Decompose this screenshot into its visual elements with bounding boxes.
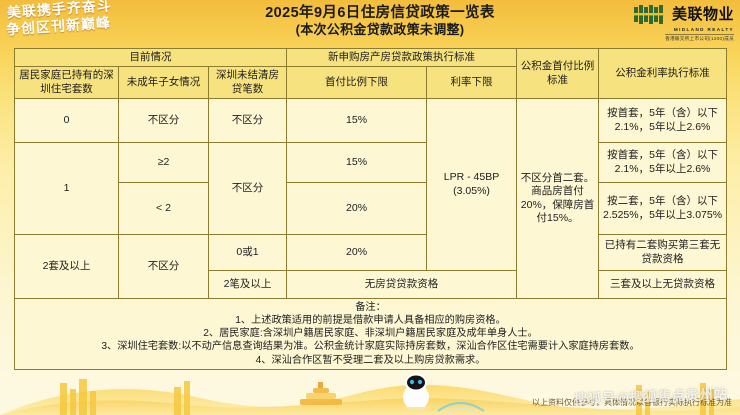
remarks-title: 备注：	[17, 301, 724, 314]
rate-min-line-2: (3.05%)	[429, 185, 514, 198]
policy-infographic: 美联携手齐奋斗 争创区刊新巅峰 2025年9月6日住房信贷政策一览表 (本次公积…	[0, 0, 740, 415]
table-row: 1 ≥2 不区分 15% 按首套，5年（含）以下2.1%，5年以上2.6%	[15, 143, 727, 183]
table-group-header-row: 目前情况 新申购房产房贷款政策执行标准 公积金首付比例标准 公积金利率执行标准	[15, 49, 727, 67]
cell-unsettled-loans: 不区分	[209, 143, 287, 235]
cell-owned-units: 1	[15, 143, 119, 235]
table-body: 0 不区分 不区分 15% LPR - 45BP (3.05%) 不区分首二套。…	[15, 99, 727, 369]
logo-row: 美联物业	[634, 4, 734, 25]
cell-unsettled-loans: 2笔及以上	[209, 271, 287, 299]
table-head: 目前情况 新申购房产房贷款政策执行标准 公积金首付比例标准 公积金利率执行标准 …	[15, 49, 727, 99]
cell-downpayment-min: 20%	[287, 235, 427, 271]
group-header-new-mortgage-policy: 新申购房产房贷款政策执行标准	[287, 49, 517, 67]
cell-unsettled-loans: 0或1	[209, 235, 287, 271]
skyline-illustration-icon	[0, 369, 740, 415]
city-skyline-decoration	[0, 369, 740, 415]
cell-unsettled-loans: 不区分	[209, 99, 287, 143]
page-title: 2025年9月6日住房信贷政策一览表 (本次公积金贷款政策未调整)	[170, 4, 590, 38]
cell-rate-min: LPR - 45BP (3.05%)	[427, 99, 517, 271]
group-header-current-status: 目前情况	[15, 49, 287, 67]
group-header-fund-rate: 公积金利率执行标准	[599, 49, 727, 99]
logo-name-en: MIDLAND REALTY	[674, 27, 734, 32]
remark-item-3: 3、深圳住宅套数:以不动产信息查询结果为准。公积金统计家庭实际持房套数，深汕合作…	[17, 340, 724, 353]
cell-downpayment-min: 20%	[287, 183, 427, 235]
remarks-row: 备注： 1、上述政策适用的前提是借款申请人具备相应的购房资格。 2、居民家庭:含…	[15, 299, 727, 369]
footer-disclaimer: 以上资料仅供参考，具体情况以各银行实际执行标准为准	[532, 397, 732, 408]
cell-minor-children: 不区分	[119, 235, 209, 299]
table-row: 2套及以上 不区分 0或1 20% 已持有二套购买第三套无贷款资格	[15, 235, 727, 271]
title-main: 2025年9月6日住房信贷政策一览表	[170, 4, 590, 22]
cell-fund-rate: 已持有二套购买第三套无贷款资格	[599, 235, 727, 271]
cell-fund-rate: 按首套，5年（含）以下2.1%，5年以上2.6%	[599, 143, 727, 183]
cell-no-loan-eligibility: 无房贷贷款资格	[287, 271, 517, 299]
remarks-cell: 备注： 1、上述政策适用的前提是借款申请人具备相应的购房资格。 2、居民家庭:含…	[15, 299, 727, 369]
midland-logo-icon	[634, 4, 668, 25]
sub-header-downpayment-min: 首付比例下限	[287, 67, 427, 99]
sub-header-owned-units: 居民家庭已持有的深圳住宅套数	[15, 67, 119, 99]
cell-fund-downpayment: 不区分首二套。商品房首付20%，保障房首付15%。	[517, 99, 599, 299]
title-sub: (本次公积金贷款政策未调整)	[170, 22, 590, 38]
sub-header-unsettled-loans: 深圳未结清房贷笔数	[209, 67, 287, 99]
cell-minor-children: ≥2	[119, 143, 209, 183]
group-header-fund-downpayment: 公积金首付比例标准	[517, 49, 599, 99]
logo-listing-note: 香港联交所上市公司(1200)成员	[665, 34, 734, 42]
cell-fund-rate: 按首套，5年（含）以下2.1%，5年以上2.6%	[599, 99, 727, 143]
cell-minor-children: < 2	[119, 183, 209, 235]
cell-minor-children: 不区分	[119, 99, 209, 143]
cell-owned-units: 2套及以上	[15, 235, 119, 299]
policy-table: 目前情况 新申购房产房贷款政策执行标准 公积金首付比例标准 公积金利率执行标准 …	[14, 48, 727, 370]
remark-item-2: 2、居民家庭:含深圳户籍居民家庭、非深圳户籍居民家庭及成年单身人士。	[17, 327, 724, 340]
cell-owned-units: 0	[15, 99, 119, 143]
cell-downpayment-min: 15%	[287, 99, 427, 143]
logo-name-cn: 美联物业	[672, 7, 734, 22]
brand-logo: 美联物业 MIDLAND REALTY 香港联交所上市公司(1200)成员	[622, 4, 734, 44]
sub-header-minor-children: 未成年子女情况	[119, 67, 209, 99]
cell-fund-rate: 三套及以上无贷款资格	[599, 271, 727, 299]
rate-min-line-1: LPR - 45BP	[429, 171, 514, 184]
cell-downpayment-min: 15%	[287, 143, 427, 183]
table-row: 0 不区分 不区分 15% LPR - 45BP (3.05%) 不区分首二套。…	[15, 99, 727, 143]
sub-header-rate-min: 利率下限	[427, 67, 517, 99]
cell-fund-rate: 按二套，5年（含）以下2.525%，5年以上3.075%	[599, 183, 727, 235]
table-row: < 2 20% 按二套，5年（含）以下2.525%，5年以上3.075%	[15, 183, 727, 235]
remark-item-1: 1、上述政策适用的前提是借款申请人具备相应的购房资格。	[17, 314, 724, 327]
mascot-icon	[394, 371, 438, 411]
remark-item-4: 4、深汕合作区暂不受理二套及以上购房贷款需求。	[17, 354, 724, 367]
banner: 美联携手齐奋斗 争创区刊新巅峰 2025年9月6日住房信贷政策一览表 (本次公积…	[0, 0, 740, 47]
calligraphy-slogan: 美联携手齐奋斗 争创区刊新巅峰	[5, 0, 168, 54]
policy-table-wrapper: 目前情况 新申购房产房贷款政策执行标准 公积金首付比例标准 公积金利率执行标准 …	[14, 48, 726, 370]
